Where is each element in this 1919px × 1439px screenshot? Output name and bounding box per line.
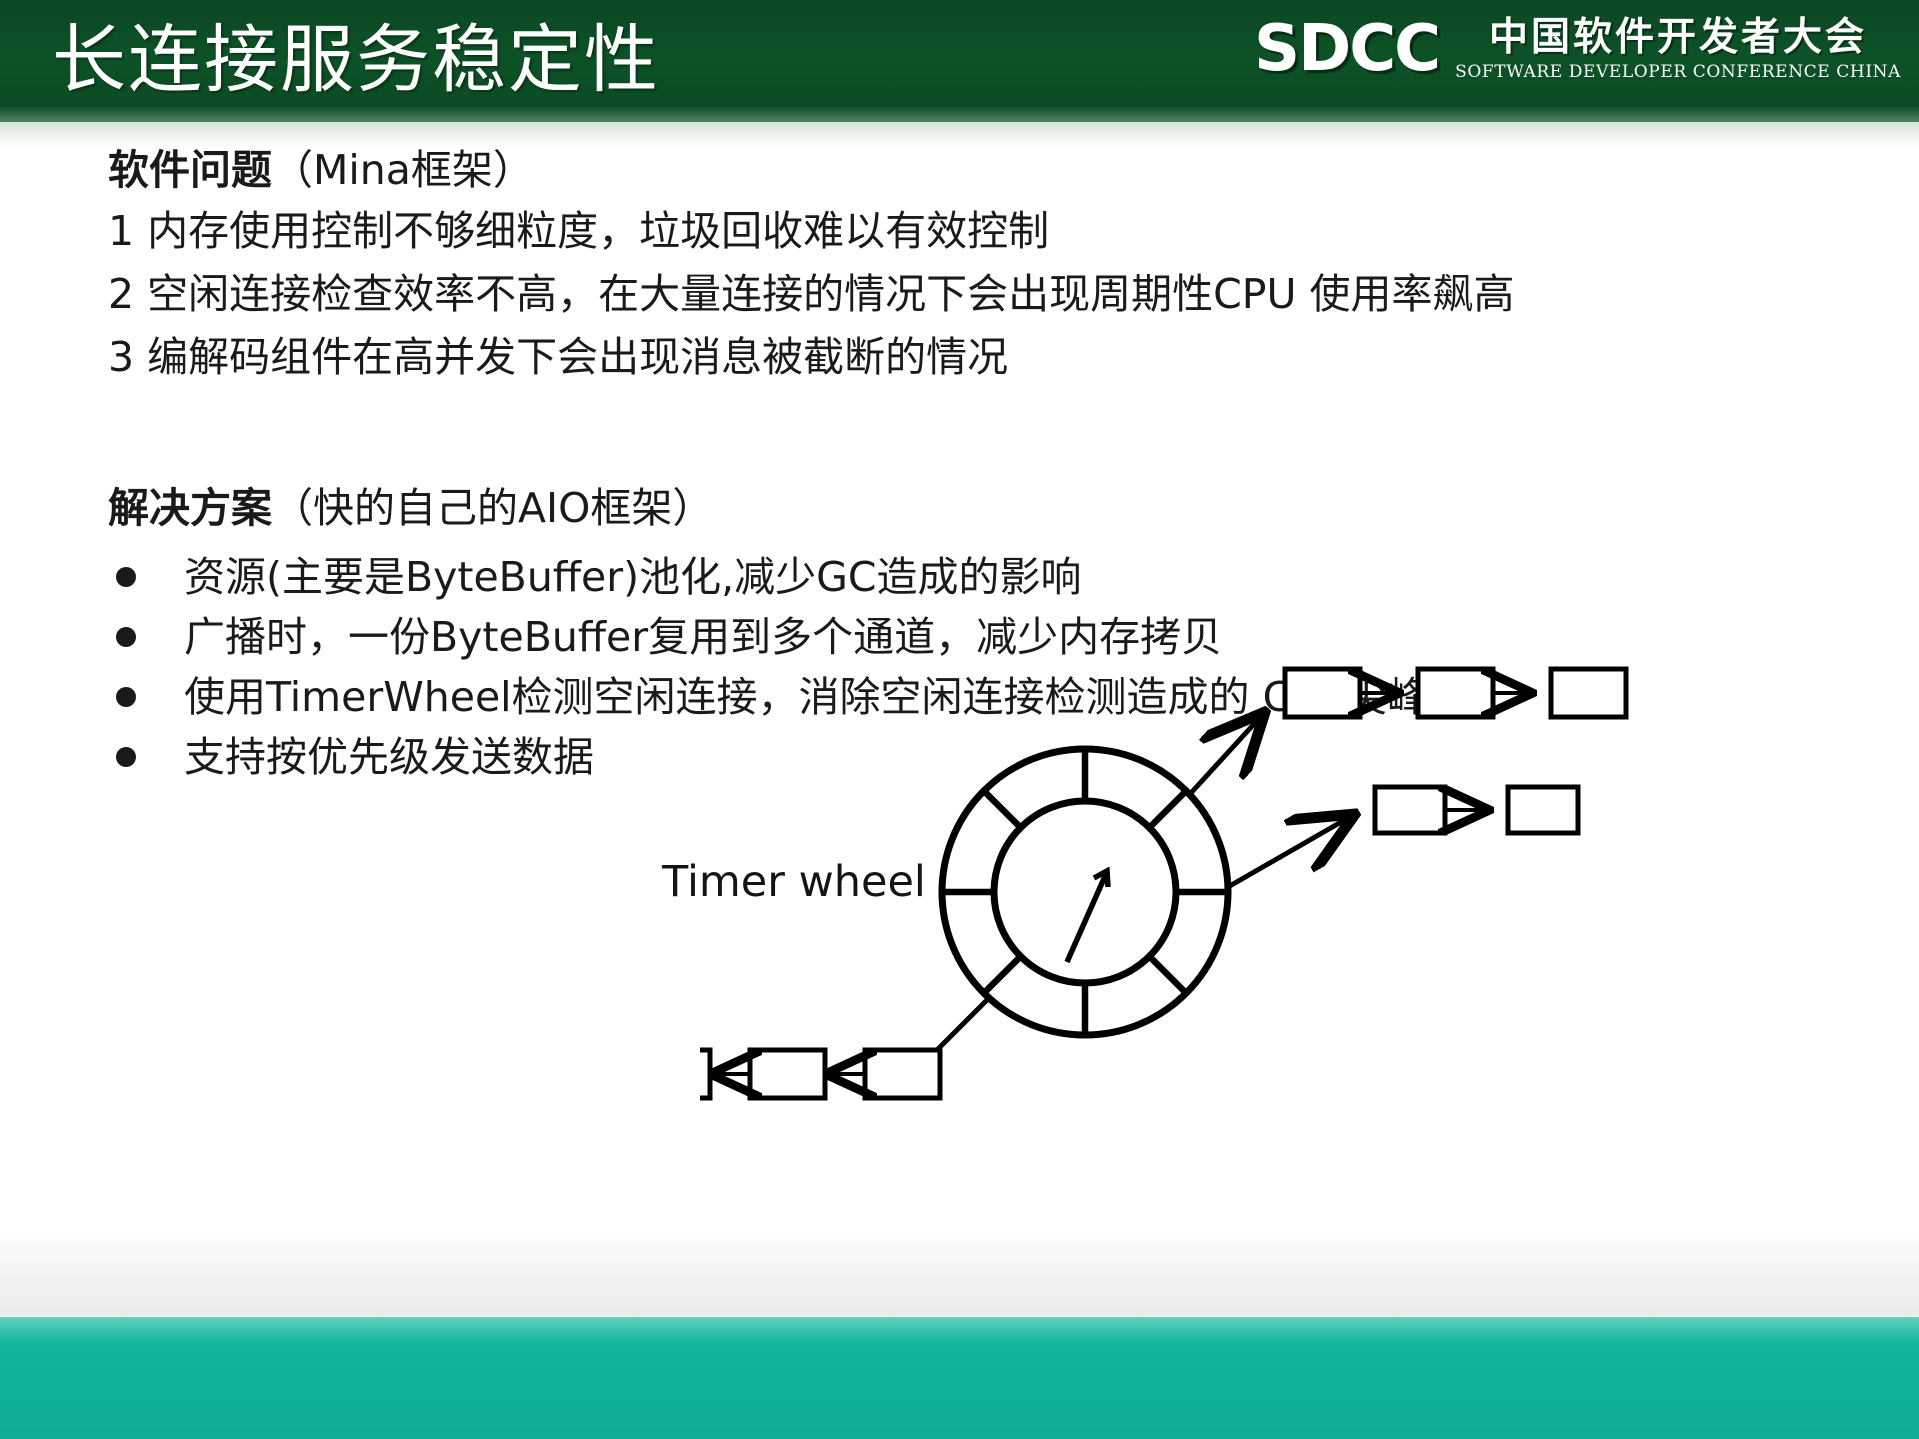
- chain-connector-middle: [1228, 814, 1355, 887]
- bucket-node: [1508, 787, 1578, 833]
- bucket-node: [1375, 787, 1445, 833]
- logo-text-block: 中国软件开发者大会 SOFTWARE DEVELOPER CONFERENCE …: [1455, 16, 1901, 82]
- bullet-dot-icon: [116, 567, 136, 587]
- bullet-dot-icon: [116, 687, 136, 707]
- footer-fade: [0, 1229, 1919, 1317]
- logo-acronym: SDCC: [1254, 17, 1439, 81]
- slide-content: 软件问题（Mina框架） 1 内存使用控制不够细粒度，垃圾回收难以有效控制 2 …: [0, 122, 1919, 1302]
- timer-wheel-label: Timer wheel: [662, 857, 926, 907]
- bucket-node: [750, 1050, 825, 1098]
- problem-item-3: 3 编解码组件在高并发下会出现消息被截断的情况: [108, 330, 1008, 384]
- solution-bullet-4-label: 支持按优先级发送数据: [184, 730, 594, 784]
- bucket-chain-bottom: [700, 997, 990, 1098]
- solution-heading-bold: 解决方案: [108, 484, 272, 532]
- bullet-dot-icon: [116, 627, 136, 647]
- problem-item-1: 1 内存使用控制不够细粒度，垃圾回收难以有效控制: [108, 204, 1049, 258]
- solution-heading-light: （快的自己的AIO框架）: [272, 484, 713, 532]
- solution-bullet-1: 资源(主要是ByteBuffer)池化,减少GC造成的影响: [116, 550, 1082, 604]
- problems-heading-light: （Mina框架）: [272, 146, 534, 194]
- chain-connector-bottom: [935, 997, 990, 1052]
- wheel-hand-icon: [1067, 871, 1108, 962]
- bucket-node: [1418, 669, 1493, 717]
- logo-chinese-name: 中国软件开发者大会: [1489, 16, 1867, 60]
- solution-bullet-1-label: 资源(主要是ByteBuffer)池化,减少GC造成的影响: [184, 550, 1082, 604]
- problem-item-2: 2 空闲连接检查效率不高，在大量连接的情况下会出现周期性CPU 使用率飙高: [108, 267, 1515, 321]
- timer-wheel-svg: [700, 642, 1919, 1202]
- page-title: 长连接服务稳定性: [52, 16, 660, 104]
- header-sheen: [0, 106, 1919, 122]
- bullet-dot-icon: [116, 747, 136, 767]
- bucket-node: [1285, 669, 1360, 717]
- wheel-spokes: [942, 749, 1228, 1035]
- footer-accent-band: [0, 1317, 1919, 1439]
- sdcc-logo: SDCC 中国软件开发者大会 SOFTWARE DEVELOPER CONFER…: [1254, 16, 1901, 82]
- slide-header: 长连接服务稳定性 SDCC 中国软件开发者大会 SOFTWARE DEVELOP…: [0, 0, 1919, 122]
- logo-english-name: SOFTWARE DEVELOPER CONFERENCE CHINA: [1455, 62, 1901, 82]
- wheel-inner-circle: [994, 801, 1176, 983]
- solution-heading: 解决方案（快的自己的AIO框架）: [108, 482, 713, 534]
- bucket-node: [1551, 669, 1626, 717]
- timer-wheel-diagram: Timer wheel: [700, 642, 1919, 1202]
- problems-heading-bold: 软件问题: [108, 146, 272, 194]
- problems-heading: 软件问题（Mina框架）: [108, 144, 534, 196]
- bucket-node: [700, 1050, 710, 1098]
- bucket-chain-middle-right: [1228, 787, 1578, 887]
- chain-connector-top: [1190, 712, 1265, 794]
- solution-bullet-4: 支持按优先级发送数据: [116, 730, 594, 784]
- bucket-chain-top-right: [1190, 669, 1626, 794]
- bucket-node: [865, 1050, 940, 1098]
